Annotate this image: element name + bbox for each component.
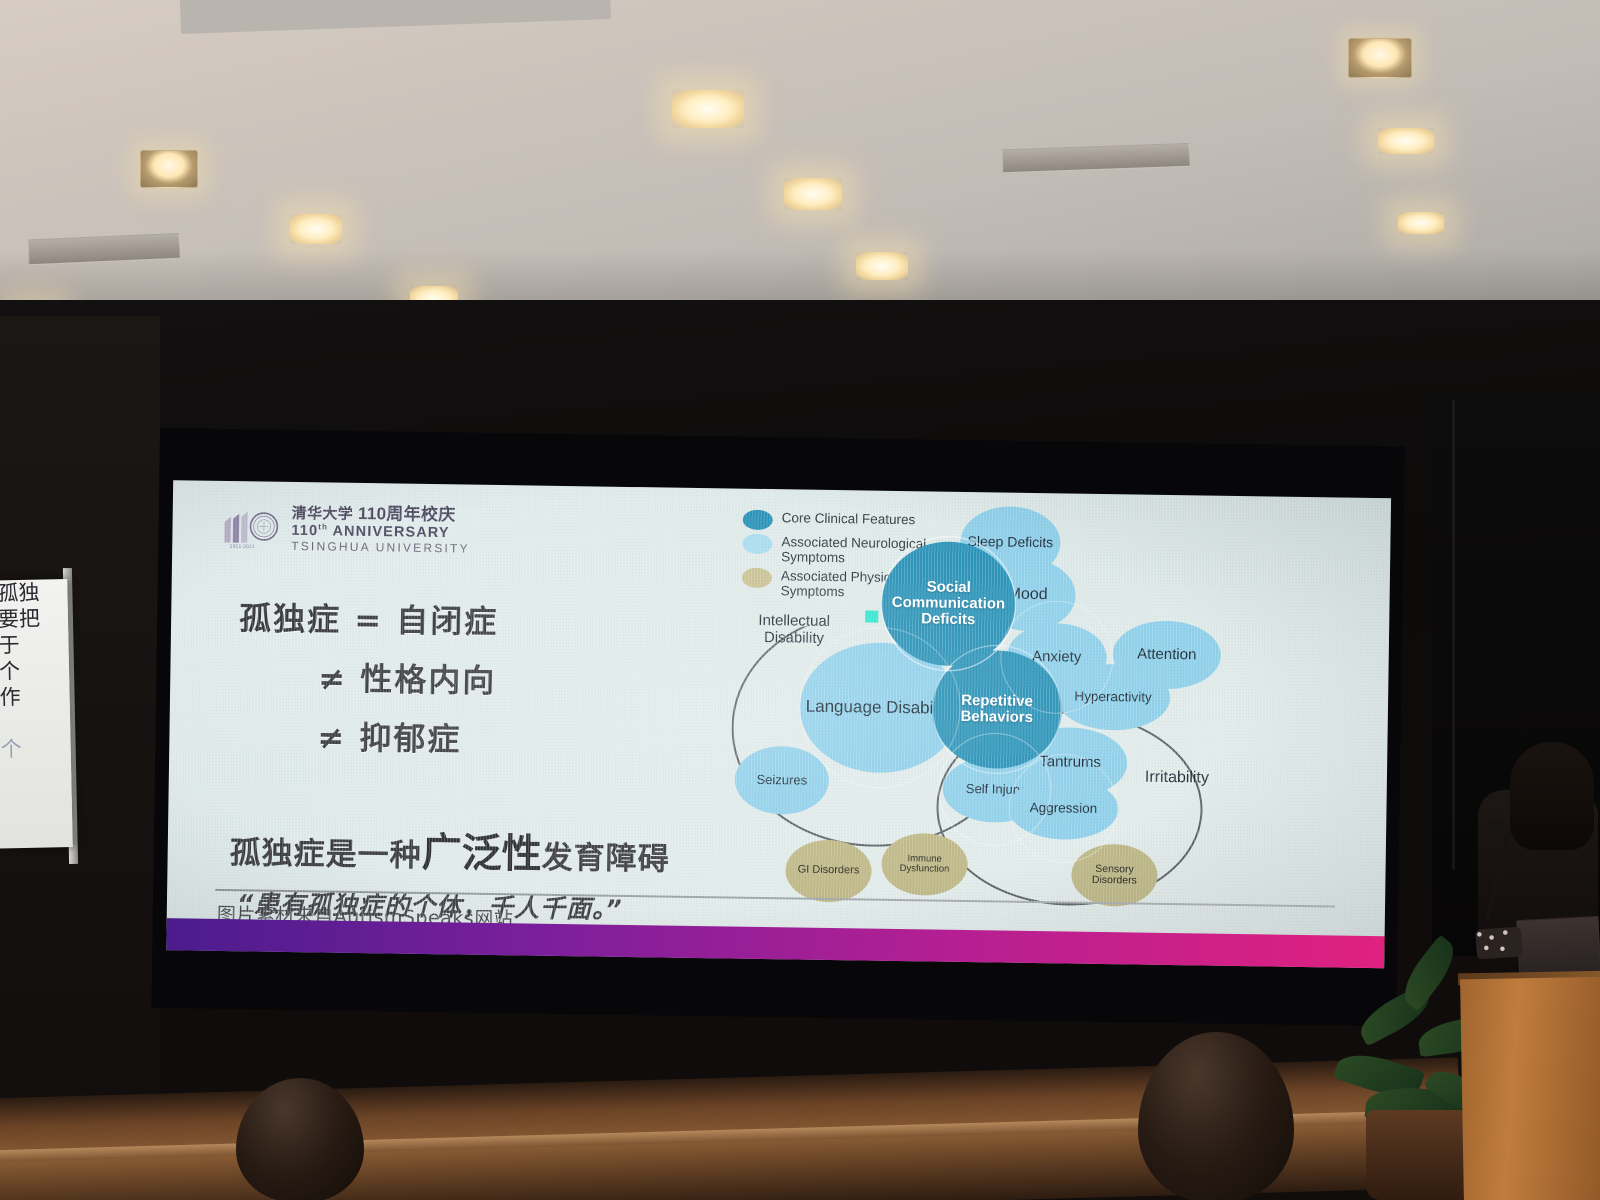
side-screen-line: 点在于 — [0, 631, 69, 659]
projection-screen: 1911-2021 清华大学 110周年校庆 110th ANNIVERSARY… — [151, 428, 1404, 1026]
legend-label: Core Clinical Features — [782, 509, 916, 527]
svg-text:1911-2021: 1911-2021 — [229, 544, 254, 550]
statement-highlight: 广泛性 — [421, 830, 542, 878]
equation-line-1: 孤独症 = 自闭症 — [239, 593, 754, 647]
logo-anniversary-number: 110 — [291, 523, 318, 539]
side-screen-line: 症的 — [0, 709, 70, 737]
legend-swatch-core-icon — [743, 510, 773, 530]
bubble-label: Aggression — [1026, 801, 1102, 817]
ceiling-light-icon — [1398, 212, 1444, 234]
ceiling-light-icon — [140, 150, 198, 188]
speaker-sleeve-pattern — [1475, 926, 1523, 959]
bubble-sensory-disorders: Sensory Disorders — [1071, 844, 1158, 907]
speaker-hair — [1510, 742, 1594, 850]
side-screen-line: 做一个 — [0, 657, 69, 685]
side-screen-line: 本身作 — [0, 683, 70, 711]
side-screen-line: 不是要把 — [0, 605, 68, 633]
bubble-label: Hyperactivity — [1070, 689, 1155, 705]
bubble-seizures: Seizures — [734, 746, 829, 815]
side-screen-line: 抑郁 — [0, 761, 72, 789]
ceiling-light-icon — [290, 214, 342, 244]
ceiling-light-icon — [1348, 38, 1412, 78]
symptom-bubble-diagram: Core Clinical Features Associated Neurol… — [723, 500, 1379, 940]
side-screen-line: 表这个 — [0, 735, 71, 763]
bubble-label: Social Communication Deficits — [881, 578, 1016, 629]
logo-cn-name: 清华大学 — [292, 504, 353, 523]
side-screen-line: 天大孤独 — [0, 579, 68, 607]
anniversary-110-icon: 1911-2021 — [220, 505, 283, 550]
plant-pot — [1366, 1110, 1476, 1200]
cursor-marker-icon — [865, 610, 878, 622]
bubble-gi-disorders: GI Disorders — [785, 839, 872, 902]
bubble-label: Sensory Disorders — [1071, 863, 1157, 887]
group-label-text: Irritability — [1145, 769, 1209, 787]
tsinghua-anniversary-logo: 1911-2021 清华大学 110周年校庆 110th ANNIVERSARY… — [220, 503, 470, 555]
legend-item: Core Clinical Features — [743, 509, 962, 533]
slide-body-text: 孤独症 = 自闭症 ≠ 性格内向 ≠ 抑郁症 孤独症是一种广泛性发育障碍 “患有… — [229, 593, 754, 928]
ceiling-light-icon — [672, 90, 744, 128]
legend-swatch-neurological-icon — [742, 534, 772, 554]
statement-prefix: 孤独症是一种 — [229, 835, 422, 874]
bubble-immune-dysfunction: Immune Dysfunction — [881, 833, 968, 896]
equation-line-3: ≠ 抑郁症 — [317, 712, 752, 764]
logo-anniversary-cn: 110周年校庆 — [358, 504, 456, 524]
bubble-label: Immune Dysfunction — [881, 854, 967, 876]
bubble-label: Repetitive Behaviors — [932, 692, 1062, 726]
presentation-slide: 1911-2021 清华大学 110周年校庆 110th ANNIVERSARY… — [166, 480, 1391, 968]
bubble-social-communication-deficits: Social Communication Deficits — [881, 541, 1017, 667]
group-label-text: Intellectual Disability — [758, 612, 830, 647]
statement-line: 孤独症是一种广泛性发育障碍 — [229, 817, 750, 883]
ceiling-light-icon — [784, 178, 842, 210]
group-label-intellectual-disability: Intellectual Disability — [729, 612, 859, 648]
bubble-label: Tantrums — [1035, 754, 1105, 771]
equation-line-2: ≠ 性格内向 — [318, 653, 753, 705]
group-label-irritability: Irritability — [1117, 768, 1237, 788]
logo-university-name: TSINGHUA UNIVERSITY — [291, 540, 470, 555]
podium — [1460, 977, 1600, 1200]
bubble-label: Attention — [1133, 646, 1200, 663]
logo-ordinal-suffix: th — [318, 522, 328, 531]
bubble-label: Seizures — [752, 773, 811, 788]
legend-swatch-physical-icon — [742, 568, 772, 588]
statement-suffix: 发育障碍 — [541, 840, 670, 878]
bubble-label: GI Disorders — [794, 865, 864, 878]
lecture-hall-photo: 天大孤独 不是要把 点在于 做一个 本身作 症的 表这个 抑郁 — [0, 0, 1600, 1200]
logo-anniversary-en: ANNIVERSARY — [332, 523, 449, 541]
side-screen: 天大孤独 不是要把 点在于 做一个 本身作 症的 表这个 抑郁 — [0, 579, 73, 849]
microphone-icon — [1488, 818, 1503, 833]
wall-seam — [1452, 400, 1455, 870]
ceiling-light-icon — [1378, 128, 1434, 154]
ceiling-light-icon — [856, 252, 908, 280]
